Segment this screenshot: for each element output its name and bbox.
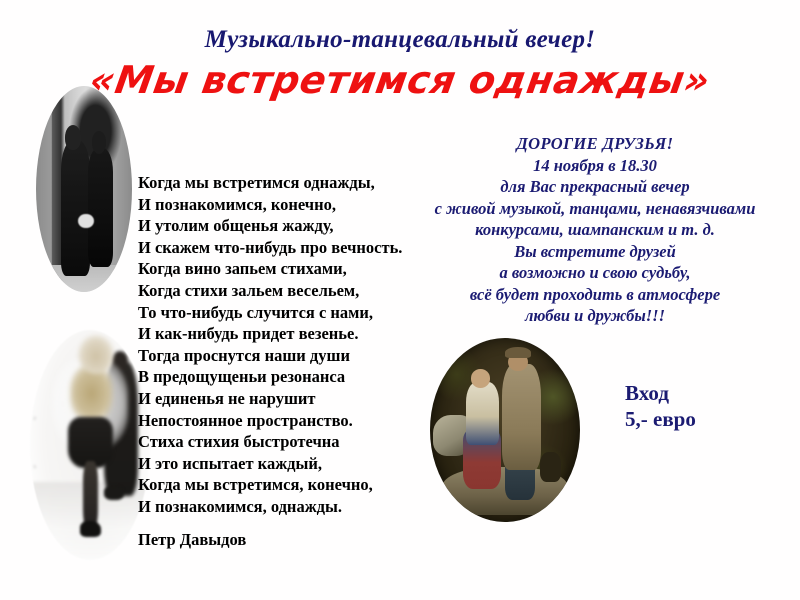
poem-line: И познакомимся, конечно, [138, 194, 428, 216]
painting-dog [540, 452, 561, 481]
poem-line: Когда стихи зальем весельем, [138, 280, 428, 302]
poem-line: И это испытает каждый, [138, 453, 428, 475]
poem-line: И утолим общенья жажду, [138, 215, 428, 237]
photo-joined-hands [78, 214, 93, 228]
photo-figure-man [61, 140, 90, 276]
painting-woman-head [471, 369, 491, 387]
event-poster: Музыкально-танцевальный вечер! «Мы встре… [0, 0, 800, 600]
poem-line: Тогда проснутся наши души [138, 345, 428, 367]
photo-couple-bw [36, 86, 132, 292]
painting-rustic-couple [430, 338, 580, 522]
poem-line: Когда мы встретимся однажды, [138, 172, 428, 194]
photo-background-man-shoe [104, 486, 123, 500]
poem-line: И познакомимся, однажды. [138, 496, 428, 518]
invitation-line: всё будет проходить в атмосфере [390, 284, 800, 306]
invitation-heading: ДОРОГИЕ ДРУЗЬЯ! [390, 133, 800, 155]
photo-figure-man-head [65, 125, 81, 150]
poem-line: Стиха стихия быстротечна [138, 431, 428, 453]
poster-title-subtitle: Музыкально-танцевальный вечер! [0, 26, 800, 54]
photo-figure-woman-head [92, 131, 106, 154]
painting-woman-body [466, 382, 499, 445]
painting-man-hat [505, 347, 531, 358]
invitation-line: а возможно и свою судьбу, [390, 262, 800, 284]
poem-text: Когда мы встретимся однажды, И познакоми… [138, 172, 428, 518]
poster-title-main: «Мы встретимся однажды» [0, 58, 800, 102]
photo-woman-leg [83, 461, 99, 530]
invitation-datetime: 14 ноября в 18.30 [390, 155, 800, 177]
poem-line: И как-нибудь придет везенье. [138, 323, 428, 345]
photo-figure-woman [88, 148, 113, 267]
invitation-line: конкурсами, шампанским и т. д. [390, 219, 800, 241]
entrance-label: Вход [625, 380, 696, 406]
poem-line: И единенья не нарушит [138, 388, 428, 410]
poem-author: Петр Давыдов [138, 529, 246, 551]
poem-line: Непостоянное пространство. [138, 410, 428, 432]
photo-walking-woman-blurred [30, 330, 150, 560]
invitation-line: любви и дружбы!!! [390, 305, 800, 327]
invitation-line: для Вас прекрасный вечер [390, 176, 800, 198]
poem-line: То что-нибудь случится с нами, [138, 302, 428, 324]
invitation-line: Вы встретите друзей [390, 241, 800, 263]
painting-man-body [502, 364, 541, 471]
invitation-text: ДОРОГИЕ ДРУЗЬЯ! 14 ноября в 18.30 для Ва… [390, 133, 800, 327]
poem-line: Когда мы встретимся, конечно, [138, 474, 428, 496]
entrance-price: 5,- евро [625, 406, 696, 432]
photo-woman-hair [78, 335, 114, 374]
invitation-line: с живой музыкой, танцами, ненавязчивами [390, 198, 800, 220]
poem-line: В предощущеньи резонанса [138, 366, 428, 388]
poem-line: Когда вино запьем стихами, [138, 258, 428, 280]
photo-woman-shoe [80, 521, 100, 537]
entrance-price-block: Вход 5,- евро [625, 380, 696, 432]
poem-line: И скажем что-нибудь про вечность. [138, 237, 428, 259]
